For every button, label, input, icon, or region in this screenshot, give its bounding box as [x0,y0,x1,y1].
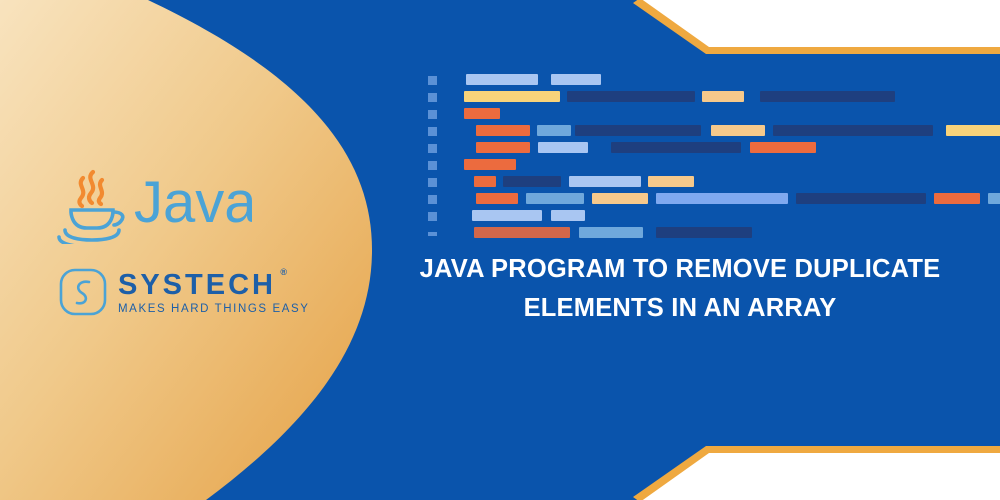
line-number-marker-icon [428,212,437,221]
code-token-bar [592,193,648,204]
systech-name-text: SYSTECH [118,269,276,301]
code-token-bar [702,91,744,102]
code-token-bar [537,125,571,136]
code-token-bar [551,210,585,221]
line-number-marker-icon [428,93,437,102]
code-token-bar [567,91,695,102]
code-line [428,123,898,140]
java-coffee-cup-icon [52,166,132,244]
code-token-bar [796,193,926,204]
line-number-marker-icon [428,110,437,119]
code-line [428,72,898,89]
line-number-marker-icon [428,144,437,153]
banner-canvas: Java SYSTECH ® MAKES HARD THINGS EASY JA… [0,0,1000,500]
code-token-bar [464,108,500,119]
line-number-marker-icon [428,195,437,204]
java-logo: Java [52,165,282,245]
code-line [428,106,898,123]
code-token-bar [648,176,694,187]
code-token-bar [934,193,980,204]
code-token-bar [474,227,570,238]
java-wordmark: Java [134,174,252,236]
code-token-bar [656,193,788,204]
code-token-bar [466,74,538,85]
code-token-bar [750,142,816,153]
code-token-bar [526,193,584,204]
systech-tagline: MAKES HARD THINGS EASY [118,303,310,315]
code-line [428,174,898,191]
code-token-bar [476,142,530,153]
page-title: JAVA PROGRAM TO REMOVE DUPLICATE ELEMENT… [400,250,960,328]
line-number-marker-icon [428,232,437,236]
code-token-bar [773,125,933,136]
code-token-bar [611,142,741,153]
bottom-right-white-notch [580,446,1000,500]
code-token-bar [551,74,601,85]
code-token-bar [711,125,765,136]
line-number-marker-icon [428,76,437,85]
systech-logo: SYSTECH ® MAKES HARD THINGS EASY [58,267,282,317]
code-token-bar [988,193,1000,204]
code-token-bar [579,227,643,238]
code-token-bar [946,125,1000,136]
line-number-marker-icon [428,161,437,170]
code-token-bar [476,125,530,136]
code-token-bar [474,176,496,187]
svg-text:Java: Java [134,174,252,235]
code-token-bar [476,193,518,204]
decorative-code-snippet [428,72,898,242]
systech-registered-mark: ® [280,268,287,277]
code-token-bar [472,210,542,221]
systech-s-swirl-icon [58,267,108,317]
code-token-bar [464,91,560,102]
line-number-marker-icon [428,178,437,187]
code-line [428,225,898,242]
code-token-bar [503,176,561,187]
systech-name: SYSTECH ® [118,271,276,300]
code-token-bar [569,176,641,187]
code-line [428,157,898,174]
code-token-bar [538,142,588,153]
logo-block: Java SYSTECH ® MAKES HARD THINGS EASY [52,165,282,317]
code-line [428,191,898,208]
code-line [428,89,898,106]
code-line [428,140,898,157]
code-token-bar [656,227,752,238]
code-line [428,208,898,225]
line-number-marker-icon [428,127,437,136]
code-token-bar [464,159,516,170]
top-right-white-notch [580,0,1000,54]
code-token-bar [760,91,895,102]
code-token-bar [575,125,701,136]
